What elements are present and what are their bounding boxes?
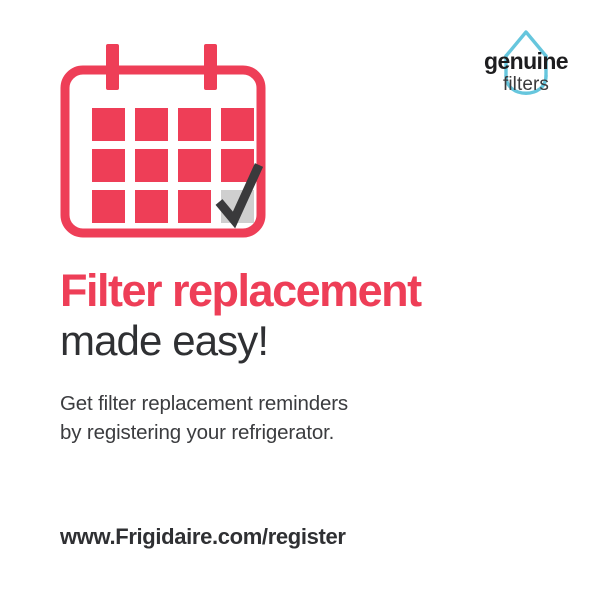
genuine-filters-logo: genuine filters — [470, 24, 582, 116]
calendar-day-cells — [92, 108, 254, 223]
body-copy-line-2: by registering your refrigerator. — [60, 418, 520, 447]
headline-line-2: made easy! — [60, 317, 560, 366]
promo-poster: genuine filters — [0, 0, 600, 600]
body-copy: Get filter replacement reminders by regi… — [60, 389, 520, 447]
calendar-with-checkmark-icon — [58, 44, 268, 240]
register-url[interactable]: www.Frigidaire.com/register — [60, 524, 346, 550]
brand-name-filters: filters — [470, 75, 582, 95]
headline-line-1: Filter replacement — [60, 268, 560, 315]
headline: Filter replacement made easy! — [60, 268, 560, 366]
brand-name-genuine: genuine — [470, 50, 582, 74]
body-copy-line-1: Get filter replacement reminders — [60, 389, 520, 418]
brand-wordmark: genuine filters — [470, 50, 582, 95]
